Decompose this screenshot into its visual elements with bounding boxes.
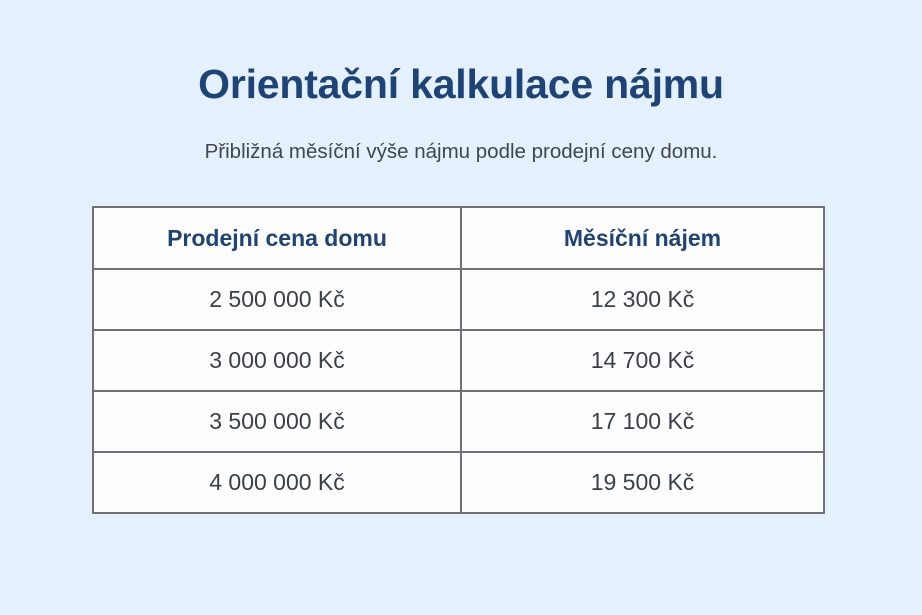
cell-monthly-rent: 12 300 Kč xyxy=(461,269,824,330)
table-row: 2 500 000 Kč 12 300 Kč xyxy=(93,269,824,330)
rent-table: Prodejní cena domu Měsíční nájem 2 500 0… xyxy=(92,206,825,514)
cell-sale-price: 4 000 000 Kč xyxy=(93,452,461,513)
table-header-row: Prodejní cena domu Měsíční nájem xyxy=(93,207,824,269)
table-row: 3 000 000 Kč 14 700 Kč xyxy=(93,330,824,391)
cell-monthly-rent: 19 500 Kč xyxy=(461,452,824,513)
cell-sale-price: 3 500 000 Kč xyxy=(93,391,461,452)
page-subtitle: Přibližná měsíční výše nájmu podle prode… xyxy=(0,140,922,165)
column-header-sale-price: Prodejní cena domu xyxy=(93,207,461,269)
cell-monthly-rent: 17 100 Kč xyxy=(461,391,824,452)
cell-sale-price: 2 500 000 Kč xyxy=(93,269,461,330)
table-header: Prodejní cena domu Měsíční nájem xyxy=(93,207,824,269)
rent-table-container: Prodejní cena domu Měsíční nájem 2 500 0… xyxy=(92,206,823,514)
cell-sale-price: 3 000 000 Kč xyxy=(93,330,461,391)
rent-calculation-page: Orientační kalkulace nájmu Přibližná měs… xyxy=(0,0,922,615)
table-row: 4 000 000 Kč 19 500 Kč xyxy=(93,452,824,513)
column-header-monthly-rent: Měsíční nájem xyxy=(461,207,824,269)
table-row: 3 500 000 Kč 17 100 Kč xyxy=(93,391,824,452)
table-body: 2 500 000 Kč 12 300 Kč 3 000 000 Kč 14 7… xyxy=(93,269,824,513)
cell-monthly-rent: 14 700 Kč xyxy=(461,330,824,391)
page-title: Orientační kalkulace nájmu xyxy=(0,62,922,107)
